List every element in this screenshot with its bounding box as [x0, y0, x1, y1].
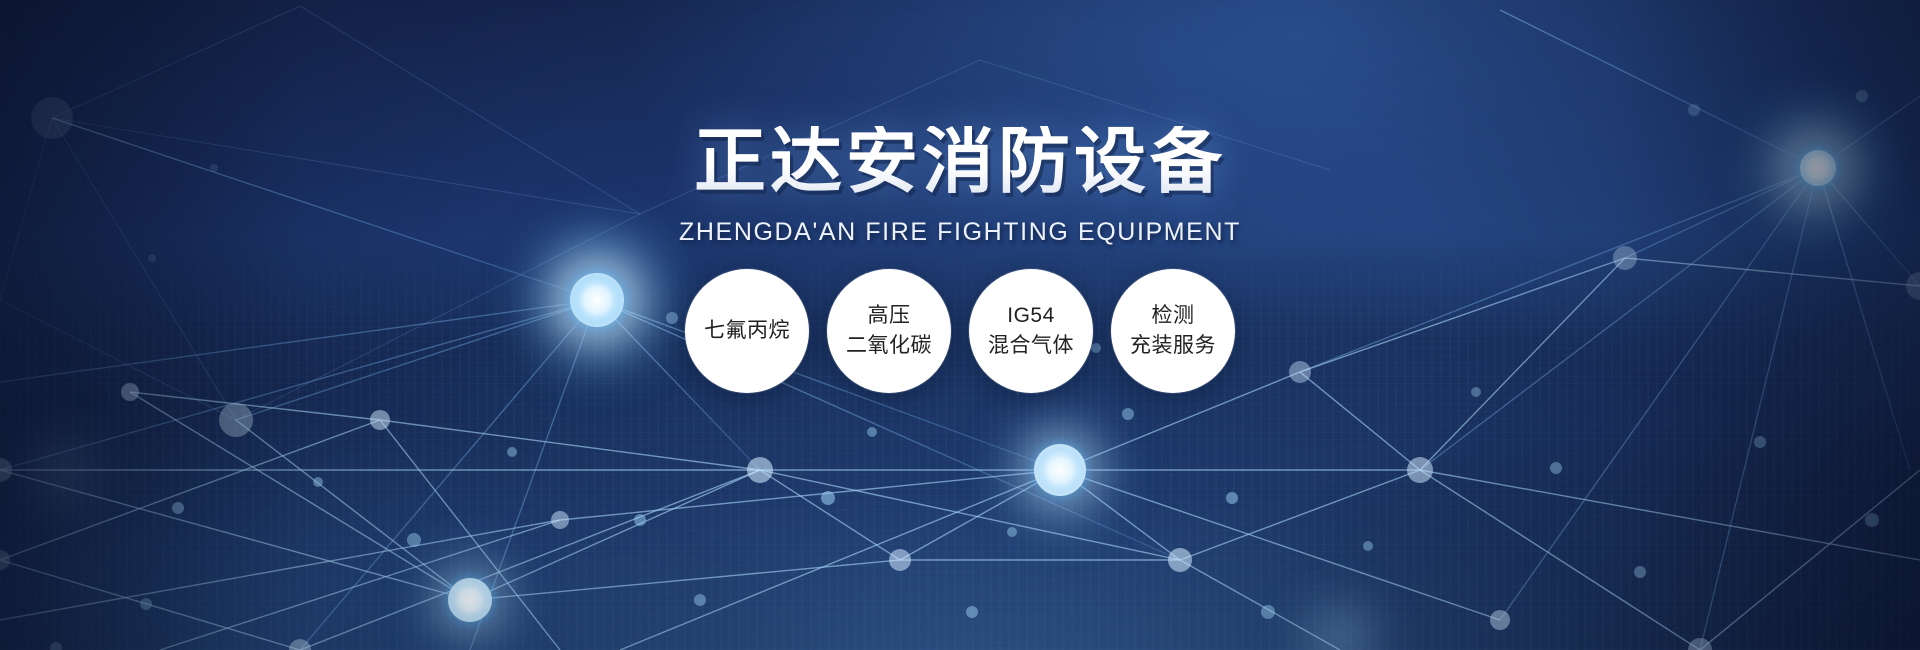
product-tag-circle[interactable]: 高压 二氧化碳 — [827, 269, 951, 393]
product-tag-circle[interactable]: 七氟丙烷 — [685, 269, 809, 393]
page-subtitle: ZHENGDA'AN FIRE FIGHTING EQUIPMENT — [679, 218, 1241, 247]
page-title: 正达安消防设备 — [694, 126, 1226, 198]
banner-content: 正达安消防设备 ZHENGDA'AN FIRE FIGHTING EQUIPME… — [0, 0, 1920, 650]
product-tag-line2: 二氧化碳 — [846, 331, 932, 361]
product-tag-line1: 检测 — [1152, 301, 1195, 331]
product-tag-line1: 七氟丙烷 — [704, 316, 790, 346]
product-tag-line1: IG54 — [1007, 301, 1055, 331]
product-tag-circle[interactable]: IG54 混合气体 — [969, 269, 1093, 393]
product-tag-line2: 充装服务 — [1130, 331, 1216, 361]
product-tag-list: 七氟丙烷 高压 二氧化碳 IG54 混合气体 检测 充装服务 — [685, 269, 1235, 393]
product-tag-circle[interactable]: 检测 充装服务 — [1111, 269, 1235, 393]
product-tag-line1: 高压 — [868, 301, 911, 331]
product-tag-line2: 混合气体 — [988, 331, 1074, 361]
hero-banner: 正达安消防设备 ZHENGDA'AN FIRE FIGHTING EQUIPME… — [0, 0, 1920, 650]
